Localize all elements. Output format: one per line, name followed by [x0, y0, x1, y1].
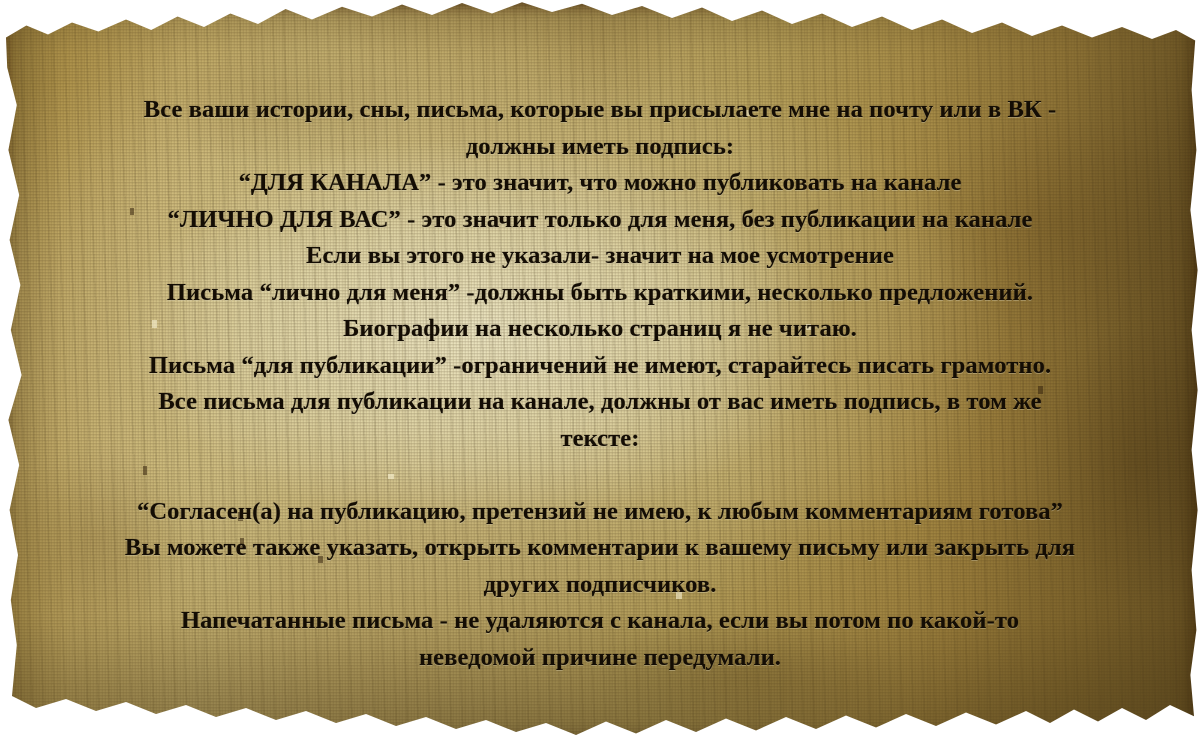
- text-line: Все ваши истории, сны, письма, которые в…: [34, 92, 1166, 129]
- text-line: тексте:: [34, 421, 1166, 458]
- text-line: Напечатанные письма - не удаляются с кан…: [34, 603, 1166, 640]
- text-line: “Согласен(а) на публикацию, претензий не…: [34, 494, 1166, 531]
- text-line: “ДЛЯ КАНАЛА” - это значит, что можно пуб…: [34, 165, 1166, 202]
- text-line: должны иметь подпись:: [34, 129, 1166, 166]
- parchment-text-block: Все ваши истории, сны, письма, которые в…: [34, 92, 1166, 676]
- text-line: Письма “лично для меня” -должны быть кра…: [34, 275, 1166, 312]
- paragraph-gap: [34, 457, 1166, 494]
- text-line: других подписчиков.: [34, 567, 1166, 604]
- text-line: Все письма для публикации на канале, дол…: [34, 384, 1166, 421]
- text-line: Письма “для публикации” -ограничений не …: [34, 348, 1166, 385]
- text-line: “ЛИЧНО ДЛЯ ВАС” - это значит только для …: [34, 202, 1166, 239]
- text-line: Биографии на несколько страниц я не чита…: [34, 311, 1166, 348]
- text-line: Вы можете также указать, открыть коммент…: [34, 530, 1166, 567]
- parchment-note-image: Все ваши истории, сны, письма, которые в…: [0, 0, 1200, 750]
- text-line: Если вы этого не указали- значит на мое …: [34, 238, 1166, 275]
- text-line: неведомой причине передумали.: [34, 640, 1166, 677]
